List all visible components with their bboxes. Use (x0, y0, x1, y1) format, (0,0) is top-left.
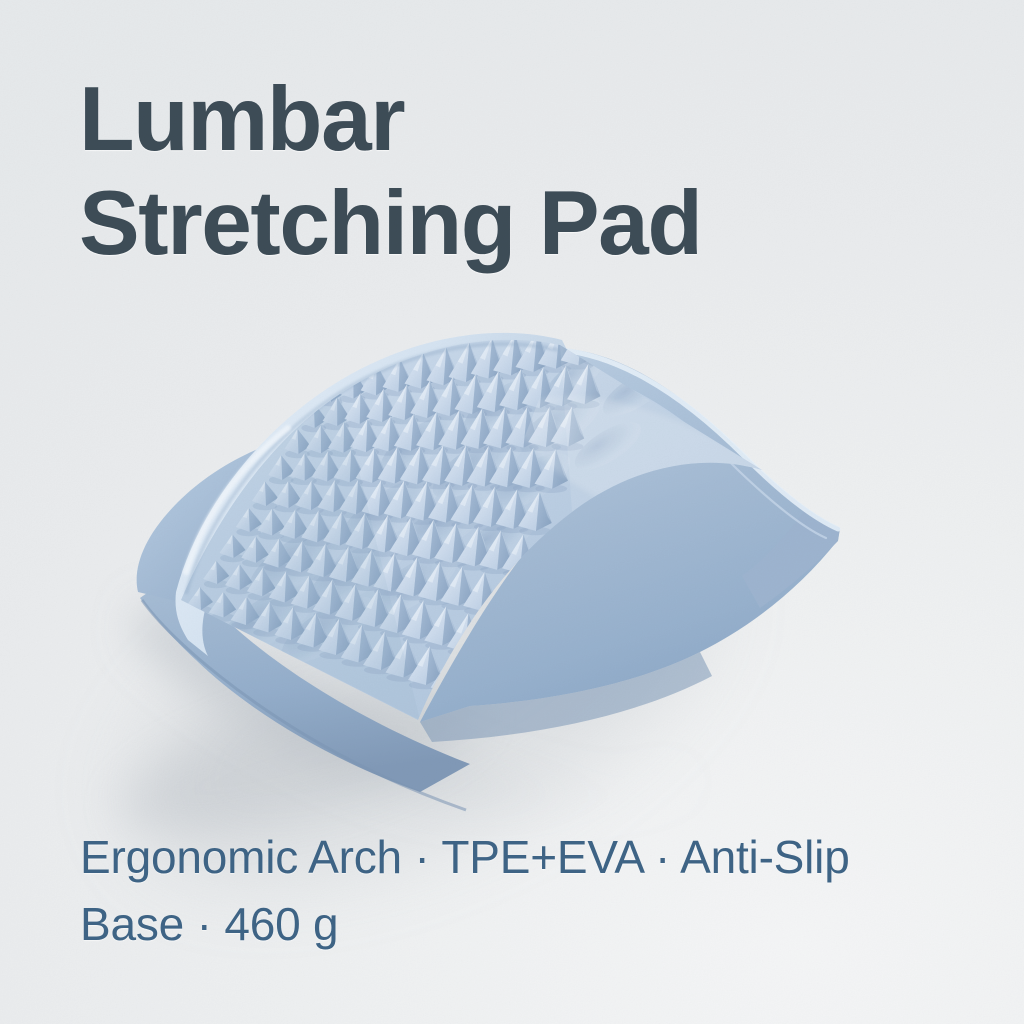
subtitle-line-2: Base · 460 g (80, 891, 960, 958)
pad-nub-deck (120, 310, 840, 780)
lumbar-pad-body (120, 310, 840, 810)
pad-front-bevel (140, 570, 470, 792)
pad-deck-inner-shadow (186, 344, 558, 594)
pad-arch-inner-line (578, 372, 826, 538)
title-line-1: Lumbar (79, 68, 959, 172)
pad-rim-specular (186, 428, 288, 572)
pad-right-tip (742, 508, 840, 608)
pad-side-specular (501, 366, 818, 575)
pad-nubs (187, 321, 617, 704)
subtitle-line-1: Ergonomic Arch · TPE+EVA · Anti-Slip (80, 824, 960, 891)
product-poster: Lumbar Stretching Pad Ergonomic Arch · T… (0, 0, 1024, 1024)
pad-dimples (181, 346, 676, 725)
pad-under-arch-shade (420, 652, 712, 742)
pad-bottom-edge (142, 600, 466, 810)
pad-side-panel (420, 348, 840, 722)
page-title: Lumbar Stretching Pad (79, 68, 959, 276)
title-line-2: Stretching Pad (79, 172, 959, 276)
pad-left-endcap (137, 440, 318, 602)
pad-rim (176, 333, 573, 656)
feature-caption: Ergonomic Arch · TPE+EVA · Anti-Slip Bas… (80, 824, 960, 958)
pad-arch-highlight (560, 350, 838, 529)
